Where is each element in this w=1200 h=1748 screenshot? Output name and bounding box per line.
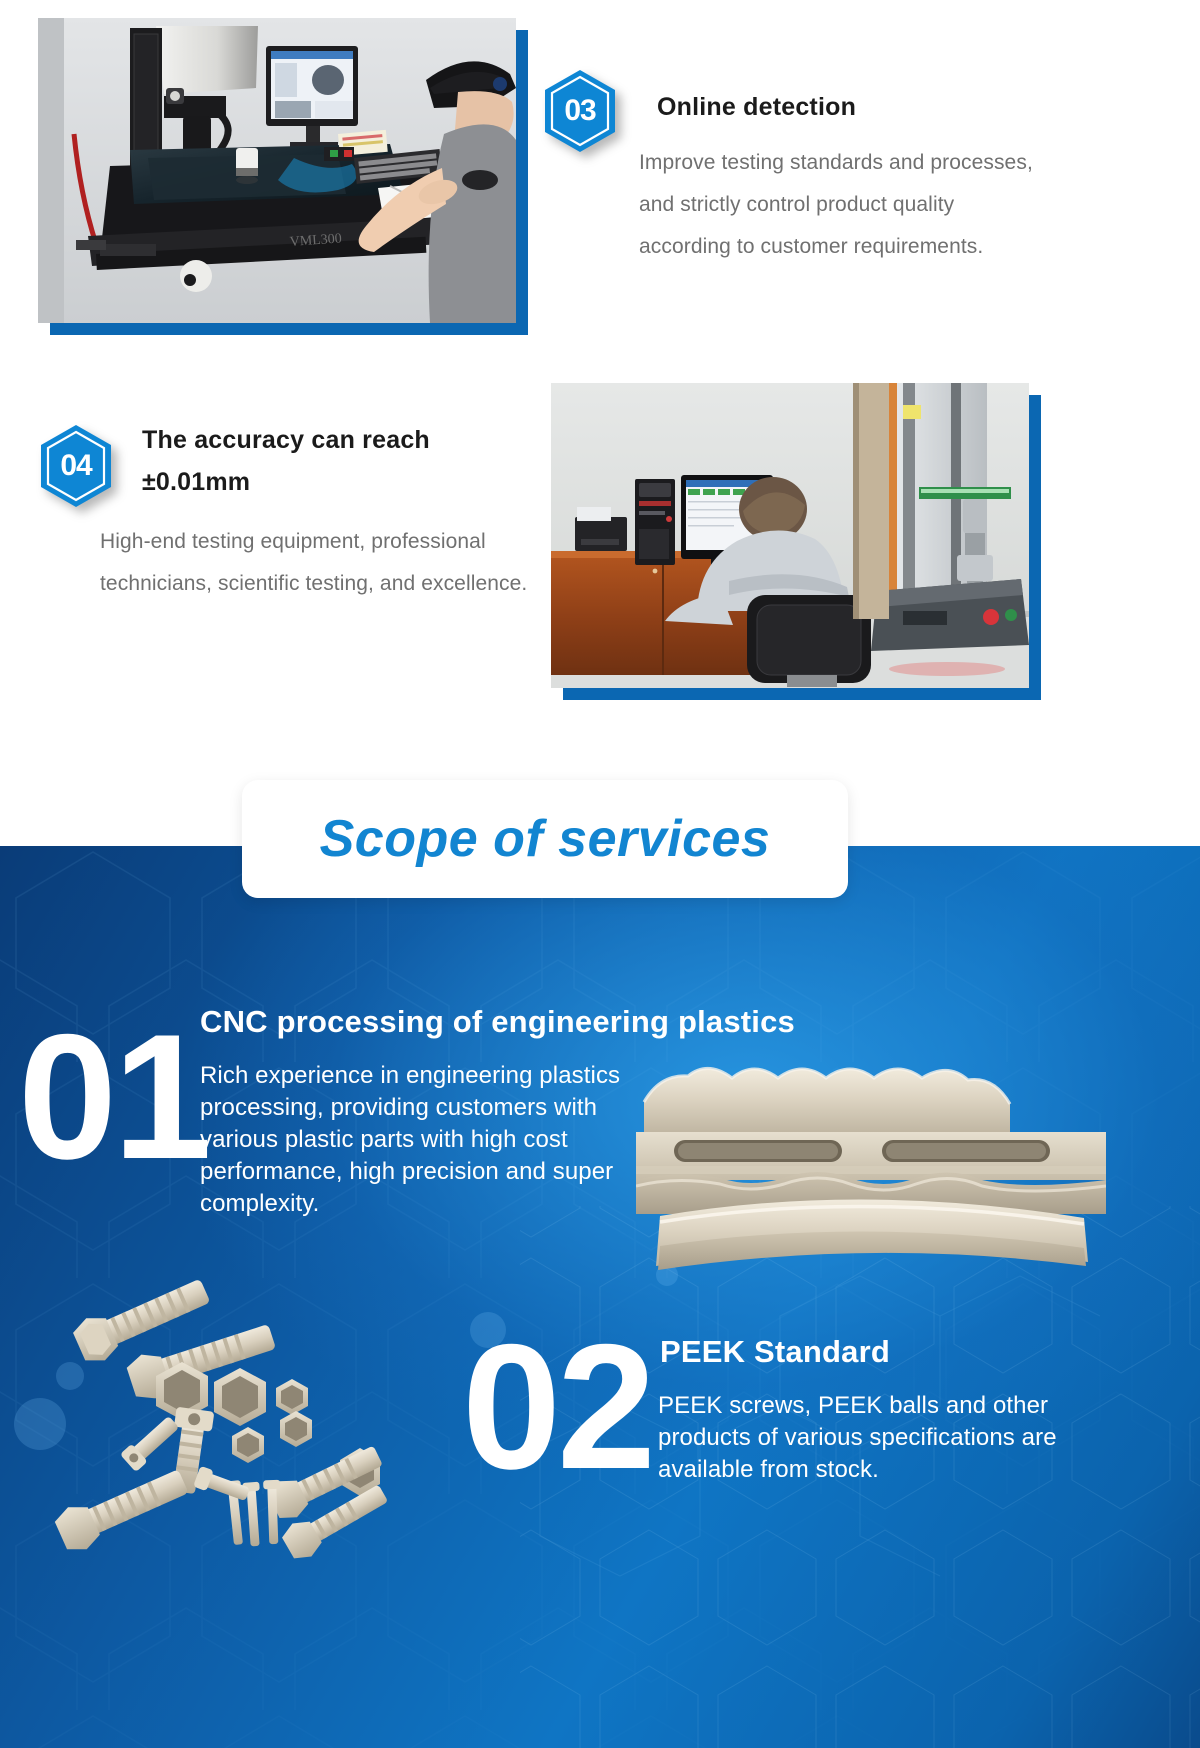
service-title-01: CNC processing of engineering plastics (200, 1003, 960, 1041)
scope-title-card: Scope of services (242, 780, 848, 898)
feature-body-04: High-end testing equipment, professional… (100, 521, 530, 605)
photo-peek-hardware (30, 1270, 480, 1570)
photo-image-online-detection: VML300 (38, 18, 516, 323)
feature-badge-03: 03 (542, 68, 618, 154)
feature-body-03: Improve testing standards and processes,… (639, 142, 1039, 268)
service-number-02: 02 (462, 1332, 652, 1482)
feature-badge-04: 04 (38, 423, 114, 509)
photo-image-accuracy-testing (551, 383, 1029, 688)
features-section: VML300 03 Online detection Improve testi… (0, 0, 1200, 846)
photo-peek-chain-part (636, 1040, 1106, 1280)
photo-accuracy-testing (551, 383, 1029, 688)
service-title-02: PEEK Standard (660, 1333, 1140, 1371)
service-number-01: 01 (18, 1022, 208, 1172)
feature-badge-number-03: 03 (542, 68, 618, 154)
feature-title-03: Online detection (657, 86, 1077, 128)
photo-online-detection: VML300 (38, 18, 516, 323)
service-body-01: Rich experience in engineering plastics … (200, 1060, 640, 1220)
service-body-02: PEEK screws, PEEK balls and other produc… (658, 1390, 1070, 1486)
feature-badge-number-04: 04 (38, 423, 114, 509)
scope-banner-title: Scope of services (320, 809, 771, 869)
feature-title-04: The accuracy can reach ±0.01mm (142, 419, 532, 503)
